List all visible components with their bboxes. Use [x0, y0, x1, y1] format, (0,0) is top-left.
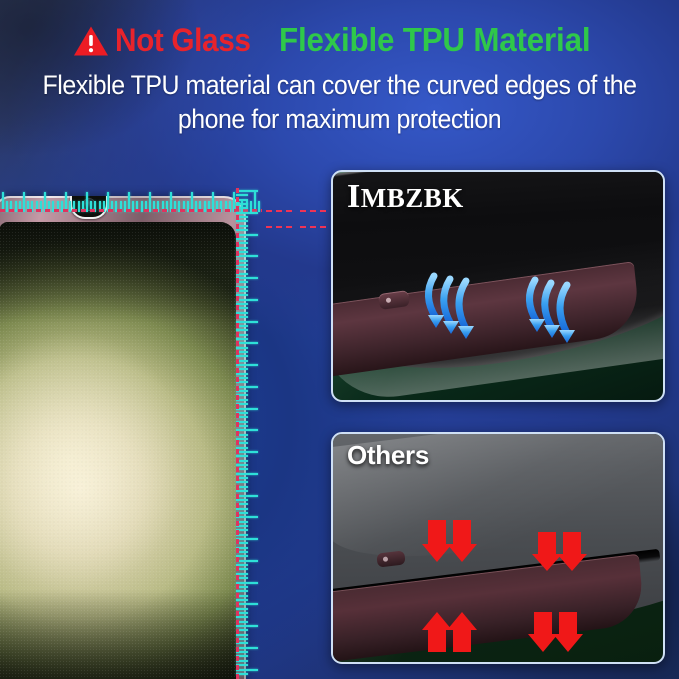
callout-dash-4 [300, 226, 330, 228]
not-glass-badge: Not Glass [115, 22, 251, 59]
ruler-tick [236, 299, 258, 301]
header-banner: Not Glass Flexible TPU Material Flexible… [0, 0, 679, 152]
callout-dash-1 [266, 210, 296, 212]
phone-screen [0, 222, 236, 679]
ruler-tick [236, 190, 258, 192]
ruler-tick [236, 582, 258, 584]
ruler-tick [236, 321, 258, 323]
ruler-tick [236, 538, 258, 540]
ruler-tick [236, 516, 258, 518]
ruler-tick [236, 669, 258, 671]
ruler-tick [236, 364, 258, 366]
ruler-tick [236, 342, 258, 344]
ruler-tick [236, 473, 258, 475]
headline-row: Not Glass Flexible TPU Material [0, 17, 679, 63]
ruler-tick [236, 625, 258, 627]
ruler-tick [236, 647, 258, 649]
ruler-tick [236, 386, 258, 388]
ruler-tick [236, 603, 258, 605]
phone-body [0, 196, 246, 679]
top-guide-dashes [0, 209, 262, 212]
subtitle-line-2: phone for maximum protection [34, 102, 646, 136]
warning-triangle-icon [73, 25, 109, 57]
ruler-tick [236, 277, 258, 279]
ruler-tick [236, 495, 258, 497]
right-guide-dashes [236, 188, 239, 679]
phone-preview [0, 196, 256, 679]
brand-rest: MBZBK [361, 183, 464, 213]
imbzbk-panel: IMBZBK [331, 170, 665, 402]
subtitle: Flexible TPU material can cover the curv… [14, 68, 665, 136]
top-measurement-ruler [0, 188, 262, 212]
page-title: Flexible TPU Material [279, 21, 590, 59]
callout-dash-3 [300, 210, 330, 212]
right-measurement-ruler [236, 188, 274, 679]
others-label: Others [347, 440, 429, 471]
subtitle-line-1: Flexible TPU material can cover the curv… [34, 68, 646, 102]
ruler-tick [236, 560, 258, 562]
imbzbk-brand-label: IMBZBK [347, 178, 464, 216]
ruler-tick [236, 451, 258, 453]
brand-initial: I [347, 178, 361, 215]
product-marketing-image: Not Glass Flexible TPU Material Flexible… [0, 0, 679, 679]
ruler-tick [236, 408, 258, 410]
ruler-tick [236, 234, 258, 236]
others-panel: Others [331, 432, 665, 664]
ruler-tick [236, 212, 258, 214]
screen-grain [0, 222, 236, 679]
callout-dash-2 [266, 226, 296, 228]
ruler-tick [236, 255, 258, 257]
ruler-tick [236, 429, 258, 431]
